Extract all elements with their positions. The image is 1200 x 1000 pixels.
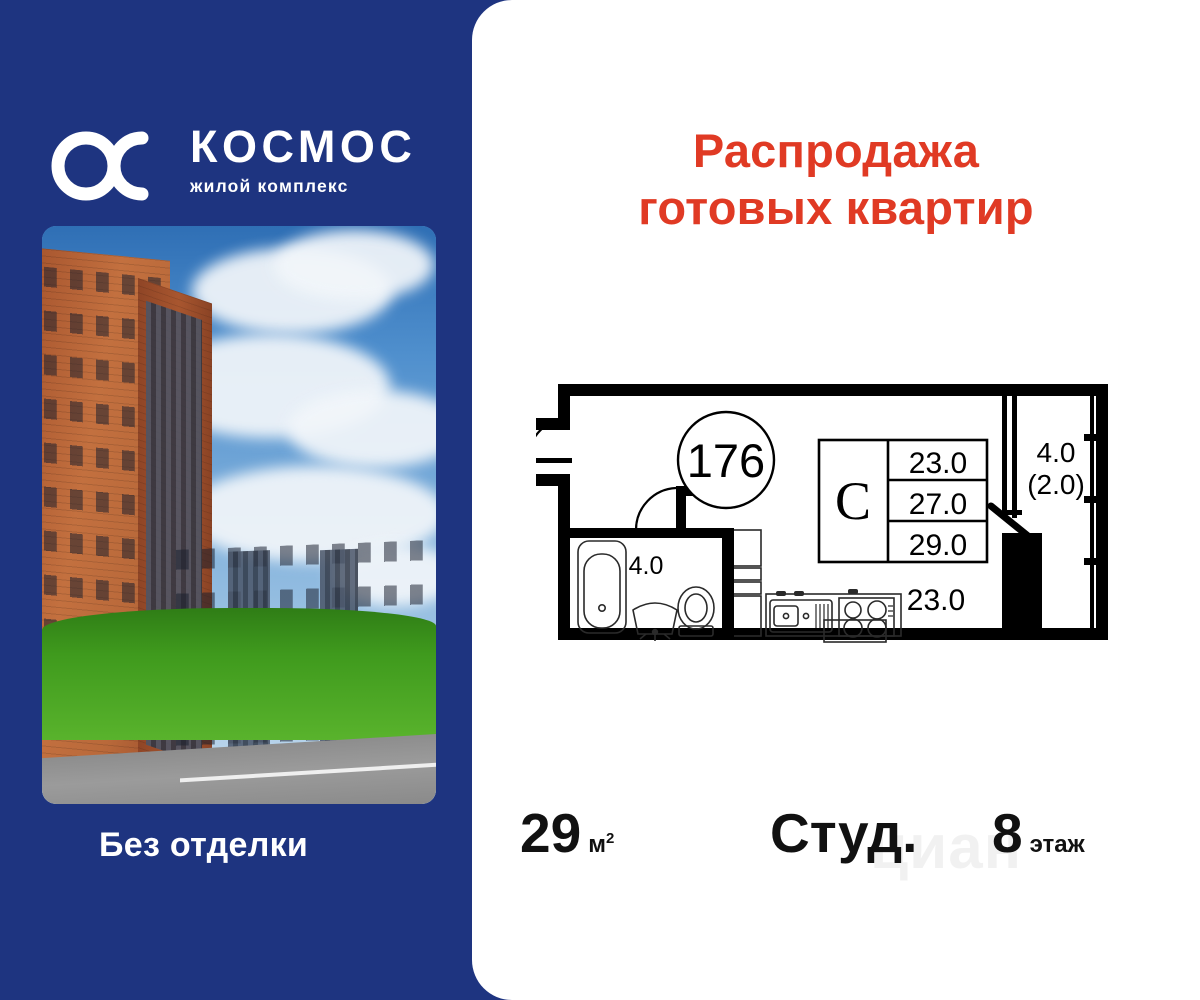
type-area-option-2: 27.0 bbox=[909, 488, 967, 521]
stat-floor-value: 8 bbox=[992, 806, 1023, 861]
promo-headline-line-2: готовых квартир bbox=[472, 179, 1200, 236]
stat-rooms: Студ. bbox=[770, 806, 917, 861]
kitchen-sink-icon bbox=[770, 591, 832, 632]
unit-number-text: 176 bbox=[687, 434, 765, 487]
stats-row: 29 м2 Студ. 8 этаж bbox=[472, 806, 1200, 906]
promo-headline: Распродажа готовых квартир bbox=[472, 122, 1200, 237]
bathroom-area-label: 4.0 bbox=[629, 552, 664, 580]
unit-number-badge: 176 bbox=[678, 412, 774, 508]
stat-rooms-value: Студ. bbox=[770, 806, 917, 861]
balcony-area-counted-label: (2.0) bbox=[1027, 469, 1085, 500]
balcony-glazing bbox=[1084, 396, 1098, 628]
type-area-option-1: 23.0 bbox=[909, 447, 967, 480]
finish-type-label: Без отделки bbox=[99, 826, 308, 865]
infinity-icon bbox=[50, 130, 178, 202]
lawn-layer bbox=[42, 608, 436, 740]
stat-floor-unit: этаж bbox=[1030, 833, 1085, 857]
wardrobe-column bbox=[733, 530, 761, 636]
bathtub-icon bbox=[578, 541, 626, 633]
brand-panel: КОСМОС жилой комплекс bbox=[0, 0, 500, 1000]
promo-headline-line-1: Распродажа bbox=[472, 122, 1200, 179]
brand-tagline: жилой комплекс bbox=[190, 178, 440, 196]
listing-card: КОСМОС жилой комплекс bbox=[0, 0, 1200, 1000]
brand-wordmark: КОСМОС жилой комплекс bbox=[190, 124, 440, 196]
building-photo bbox=[42, 226, 436, 804]
apartment-type-letter: C bbox=[835, 471, 871, 531]
partition-wall bbox=[728, 528, 734, 640]
bathroom-door-icon bbox=[636, 488, 676, 530]
apartment-floorplan: 4.0 bbox=[536, 378, 1136, 648]
stat-area: 29 м2 bbox=[520, 806, 614, 861]
stat-floor: 8 этаж bbox=[992, 806, 1085, 861]
stat-area-unit: м2 bbox=[588, 831, 614, 857]
type-area-option-3: 29.0 bbox=[909, 529, 967, 562]
balcony-area-label: 4.0 bbox=[1037, 437, 1076, 468]
brand-logo-lockup: КОСМОС жилой комплекс bbox=[42, 120, 442, 212]
balcony-room: 4.0 (2.0) bbox=[991, 396, 1098, 628]
cloud bbox=[274, 230, 434, 300]
floorplan-container: 4.0 bbox=[472, 378, 1200, 678]
stat-area-value: 29 bbox=[520, 806, 581, 861]
brand-name: КОСМОС bbox=[190, 124, 440, 169]
content-panel: Распродажа готовых квартир bbox=[472, 0, 1200, 1000]
living-area-label: 23.0 bbox=[907, 584, 965, 617]
bathroom-room: 4.0 bbox=[570, 486, 732, 641]
